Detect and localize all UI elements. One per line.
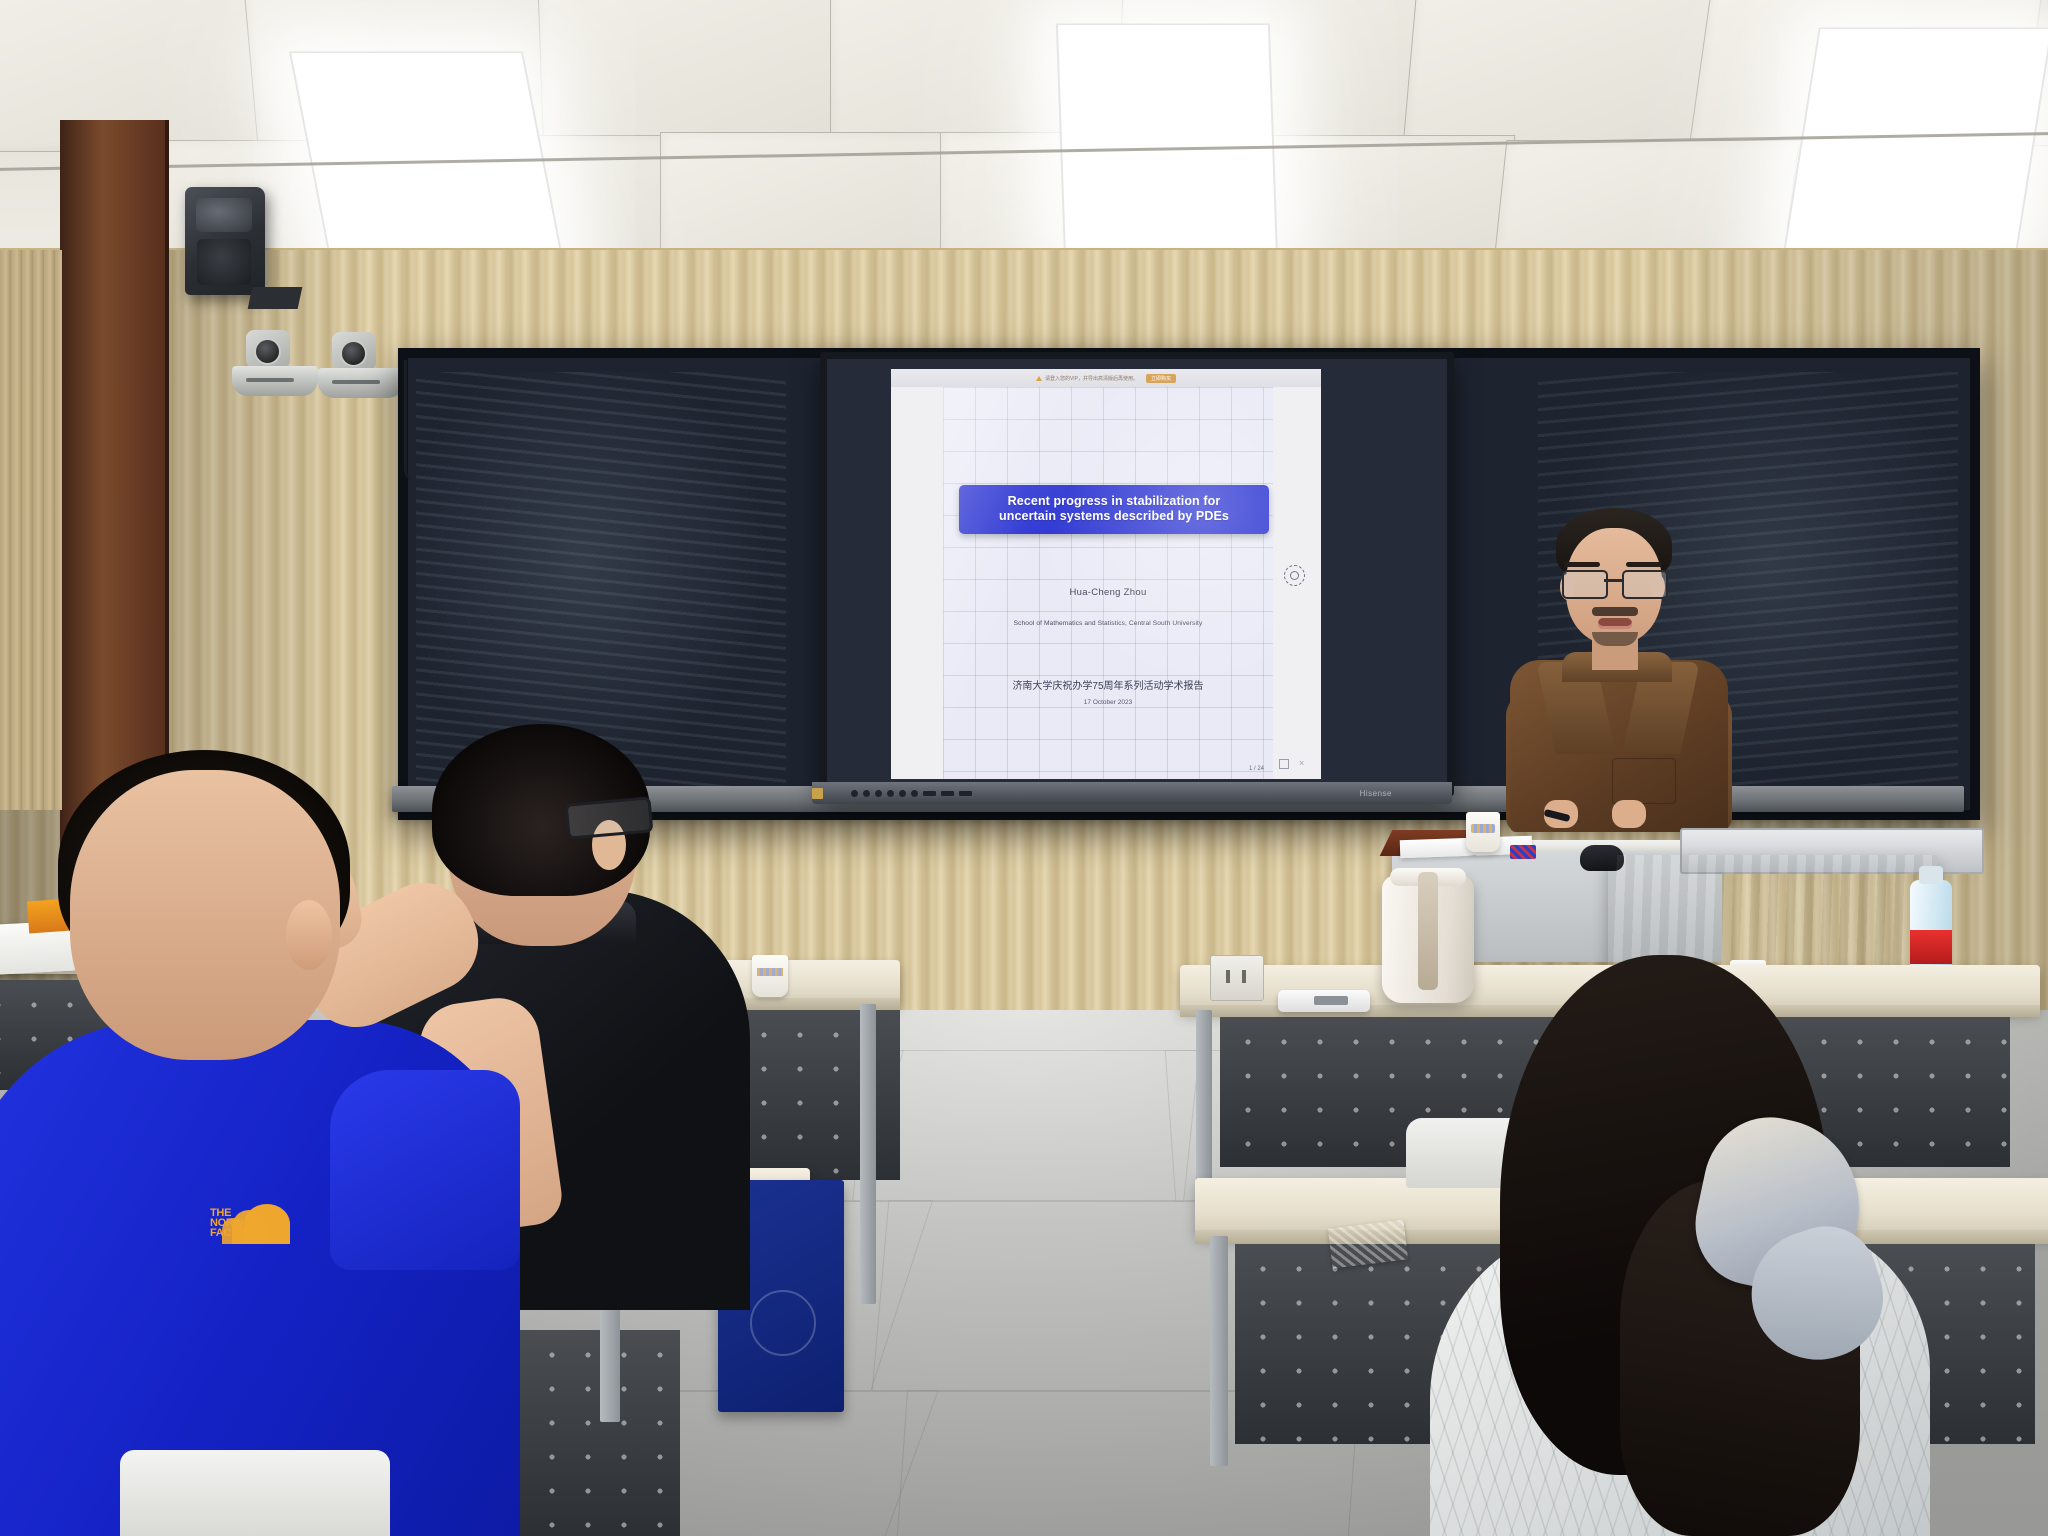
slide-canvas[interactable]: Recent progress in stabilization for unc… [943,387,1273,779]
presentation-window[interactable]: 请登入您的VIP，并导出高清版后再使用。 立即购买 Recent progres… [891,369,1321,779]
watermark-logo-icon [1284,565,1305,586]
close-icon[interactable]: × [1299,759,1307,767]
classroom-scene: 请登入您的VIP，并导出高清版后再使用。 立即购买 Recent progres… [0,0,2048,1536]
ceiling-light [1056,23,1278,260]
eyeglasses-icon [565,796,654,839]
bottle-label [1910,930,1952,964]
wall-panel-left [0,250,62,810]
ptz-camera [318,332,404,404]
camera-lens-icon [254,338,281,365]
screen-glare [943,387,1273,779]
camera-lens-icon [340,340,367,367]
buy-now-button[interactable]: 立即购买 [1146,374,1176,383]
display-cable [404,360,414,480]
kettle-handle [1418,872,1438,990]
display-screen[interactable]: 请登入您的VIP，并导出高清版后再使用。 立即购买 Recent progres… [827,359,1447,789]
bottle-cap [1919,866,1943,884]
viewer-controls[interactable]: × [1279,759,1307,769]
presenter [1500,500,1740,820]
eyeglasses-icon [1562,570,1666,595]
bag-logo-icon [750,1290,816,1356]
door-frame [60,120,169,860]
display-brand-label: Hisense [1360,789,1392,798]
warning-message: 请登入您的VIP，并导出高清版后再使用。 立即购买 [1036,374,1176,383]
wall-speaker [185,187,265,295]
north-face-logo-icon: THE NORTH FACE [210,1200,296,1246]
projector-remote[interactable] [1278,990,1370,1012]
ptz-camera [232,330,318,402]
chair-seat [120,1450,390,1536]
app-warning-bar: 请登入您的VIP，并导出高清版后再使用。 立即购买 [891,369,1321,387]
chalk-smudge [416,372,786,792]
power-led-icon [812,788,823,799]
fit-screen-icon[interactable] [1279,759,1289,769]
ceiling-light [1781,27,2048,264]
warning-triangle-icon [1036,376,1042,381]
shirt-text-line3: FACE [210,1227,238,1239]
paper-cup [1466,812,1500,852]
display-bezel: Hisense [812,782,1452,804]
speaker-driver [197,239,251,285]
display-ports[interactable] [851,790,972,797]
speaker-horn [196,198,252,232]
paper-cup [752,955,788,997]
speaker-bracket [248,287,303,309]
smart-display[interactable]: 请登入您的VIP，并导出高清版后再使用。 立即购买 Recent progres… [820,352,1454,796]
small-object [1510,845,1536,859]
warning-text: 请登入您的VIP，并导出高清版后再使用。 [1045,375,1138,382]
wall-power-outlet [1210,955,1264,1001]
